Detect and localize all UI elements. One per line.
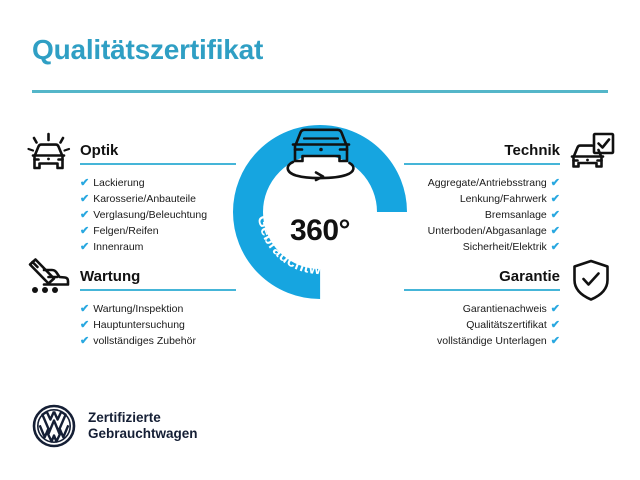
certificate-page: Qualitätszertifikat Optik ✔ Lackierung [0,0,640,480]
list-item-label: Garantienachweis [463,301,547,317]
check-icon: ✔ [551,194,560,205]
check-icon: ✔ [551,210,560,221]
checklist-optik: ✔ Lackierung ✔ Karosserie/Anbauteile ✔ V… [80,175,236,255]
check-icon: ✔ [551,242,560,253]
title-divider [32,90,608,93]
checklist-garantie: Garantienachweis ✔ Qualitätszertifikat ✔… [404,301,560,349]
check-icon: ✔ [80,194,89,205]
check-icon: ✔ [551,178,560,189]
360-gebrauchtwagen-check-badge: Gebrauchtwagen-Check 360° [232,124,408,300]
section-title-technik: Technik [404,142,560,160]
list-item-label: vollständige Unterlagen [437,333,547,349]
list-item-label: Lackierung [93,175,144,191]
list-item: ✔ vollständiges Zubehör [80,333,236,349]
list-item: ✔ Karosserie/Anbauteile [80,191,236,207]
check-icon: ✔ [80,210,89,221]
section-title-garantie: Garantie [404,268,560,286]
checklist-technik: Aggregate/Antriebsstrang ✔ Lenkung/Fahrw… [404,175,560,255]
check-icon: ✔ [551,320,560,331]
list-item: ✔ Hauptuntersuchung [80,317,236,333]
footer-text: Zertifizierte Gebrauchtwagen [88,410,198,442]
section-divider-wartung [80,289,236,291]
list-item: Sicherheit/Elektrik ✔ [404,239,560,255]
list-item-label: Lenkung/Fahrwerk [460,191,547,207]
list-item: Unterboden/Abgasanlage ✔ [404,223,560,239]
sparkling-car-front-icon [26,132,72,179]
check-icon: ✔ [80,320,89,331]
list-item-label: Karosserie/Anbauteile [93,191,196,207]
volkswagen-logo-icon [32,404,76,448]
check-icon: ✔ [551,226,560,237]
list-item: Qualitätszertifikat ✔ [404,317,560,333]
check-icon: ✔ [551,336,560,347]
list-item: ✔ Felgen/Reifen [80,223,236,239]
list-item-label: Felgen/Reifen [93,223,158,239]
check-icon: ✔ [80,242,89,253]
check-icon: ✔ [80,178,89,189]
section-optik: Optik ✔ Lackierung ✔ Karosserie/Anbautei… [80,142,236,255]
list-item: Bremsanlage ✔ [404,207,560,223]
section-divider-technik [404,163,560,165]
list-item: Lenkung/Fahrwerk ✔ [404,191,560,207]
section-divider-garantie [404,289,560,291]
section-wartung: Wartung ✔ Wartung/Inspektion ✔ Hauptunte… [80,268,236,349]
badge-degrees-label: 360° [232,214,408,248]
section-garantie: Garantie Garantienachweis ✔ Qualitätszer… [404,268,560,349]
list-item-label: Verglasung/Beleuchtung [93,207,207,223]
check-icon: ✔ [551,304,560,315]
list-item-label: Wartung/Inspektion [93,301,183,317]
section-technik: Technik Aggregate/Antriebsstrang ✔ Lenku… [404,142,560,255]
section-title-optik: Optik [80,142,236,160]
list-item-label: Qualitätszertifikat [466,317,547,333]
vw-certified-lockup: Zertifizierte Gebrauchtwagen [32,404,198,448]
check-icon: ✔ [80,226,89,237]
section-title-wartung: Wartung [80,268,236,286]
check-icon: ✔ [80,336,89,347]
list-item: ✔ Innenraum [80,239,236,255]
list-item-label: Bremsanlage [485,207,547,223]
list-item-label: Sicherheit/Elektrik [463,239,547,255]
list-item: ✔ Verglasung/Beleuchtung [80,207,236,223]
list-item: ✔ Lackierung [80,175,236,191]
list-item-label: Aggregate/Antriebsstrang [428,175,547,191]
list-item: Garantienachweis ✔ [404,301,560,317]
list-item: ✔ Wartung/Inspektion [80,301,236,317]
section-divider-optik [80,163,236,165]
shield-check-icon [570,258,612,307]
check-icon: ✔ [80,304,89,315]
list-item-label: Innenraum [93,239,143,255]
car-front-checkbox-icon [568,132,616,179]
list-item-label: Unterboden/Abgasanlage [428,223,547,239]
list-item: Aggregate/Antriebsstrang ✔ [404,175,560,191]
page-title: Qualitätszertifikat [32,34,263,66]
list-item: vollständige Unterlagen ✔ [404,333,560,349]
list-item-label: vollständiges Zubehör [93,333,196,349]
list-item-label: Hauptuntersuchung [93,317,185,333]
checklist-wartung: ✔ Wartung/Inspektion ✔ Hauptuntersuchung… [80,301,236,349]
car-front-rotate-icon [276,122,366,184]
wrench-car-service-icon [24,256,72,303]
